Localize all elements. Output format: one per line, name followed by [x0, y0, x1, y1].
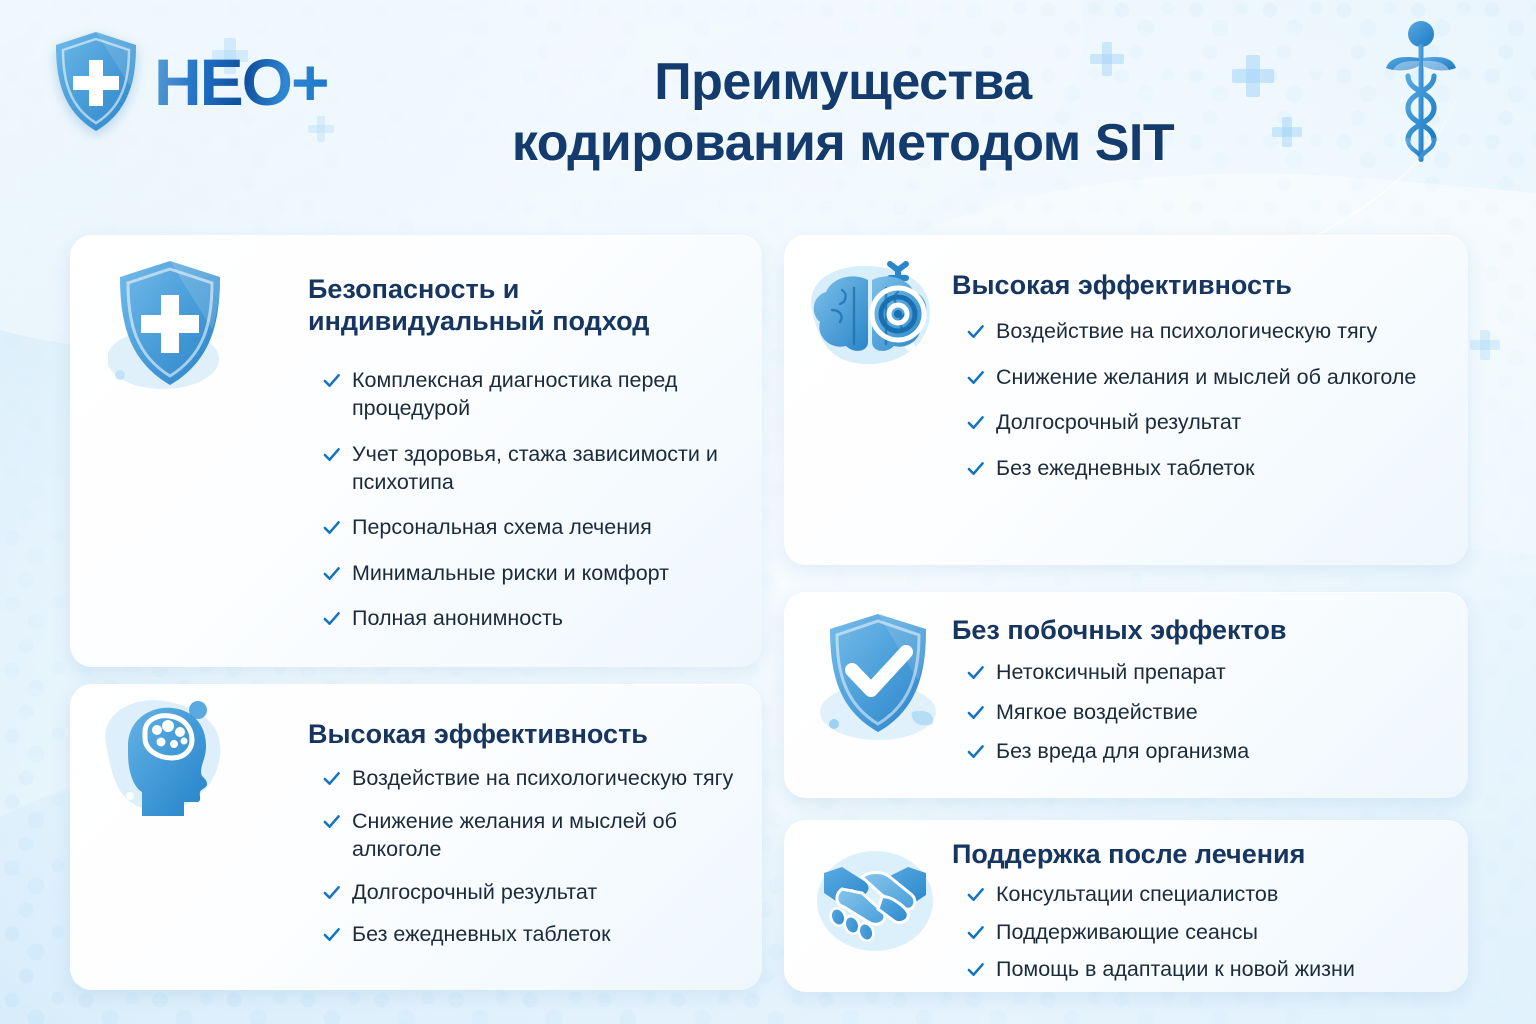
list-item-label: Мягкое воздействие: [996, 698, 1198, 726]
list-item-label: Долгосрочный результат: [352, 878, 597, 906]
check-icon: [322, 564, 341, 583]
list-item: Комплексная диагностика перед процедурой: [322, 366, 734, 423]
list-item-label: Снижение желания и мыслей об алкоголе: [352, 807, 734, 864]
list-item: Мягкое воздействие: [966, 698, 1440, 726]
check-icon: [966, 960, 985, 979]
list-item: Консультации специалистов: [966, 880, 1440, 908]
shield-cross-icon: [108, 255, 232, 405]
check-icon: [322, 925, 341, 944]
list-item-label: Без ежедневных таблеток: [352, 920, 611, 948]
check-icon: [966, 413, 985, 432]
background-cross-icon: [1470, 330, 1500, 360]
shield-cross-icon: [52, 30, 140, 134]
check-icon: [322, 812, 341, 831]
card-title: Высокая эффективность: [308, 718, 734, 750]
card-title: Поддержка после лечения: [952, 838, 1440, 870]
list-item: Без ежедневных таблеток: [966, 454, 1440, 482]
list-item: Поддерживающие сеансы: [966, 918, 1440, 946]
check-icon: [966, 885, 985, 904]
card-title: Безопасность и индивидуальный подход: [308, 273, 734, 338]
list-item-label: Минимальные риски и комфорт: [352, 559, 669, 587]
list-item-label: Персональная схема лечения: [352, 513, 652, 541]
list-item-label: Поддерживающие сеансы: [996, 918, 1258, 946]
list-item-label: Воздействие на психологическую тягу: [996, 317, 1377, 345]
check-icon: [966, 742, 985, 761]
list-item-label: Консультации специалистов: [996, 880, 1278, 908]
list-item-label: Снижение желания и мыслей об алкоголе: [996, 363, 1416, 391]
bullet-list: Консультации специалистов Поддерживающие…: [966, 880, 1440, 983]
list-item-label: Без ежедневных таблеток: [996, 454, 1255, 482]
list-item: Без ежедневных таблеток: [322, 920, 734, 948]
list-item-label: Комплексная диагностика перед процедурой: [352, 366, 734, 423]
bullet-list: Воздействие на психологическую тягу Сниж…: [322, 764, 734, 948]
list-item: Минимальные риски и комфорт: [322, 559, 734, 587]
list-item-label: Долгосрочный результат: [996, 408, 1241, 436]
handshake-icon: [812, 845, 938, 957]
list-item: Воздействие на психологическую тягу: [322, 764, 734, 792]
shield-check-icon: [816, 608, 944, 750]
list-item: Долгосрочный результат: [966, 408, 1440, 436]
list-item: Снижение желания и мыслей об алкоголе: [966, 363, 1440, 391]
bullet-list: Нетоксичный препарат Мягкое воздействие …: [966, 658, 1440, 765]
list-item: Долгосрочный результат: [322, 878, 734, 906]
check-icon: [966, 663, 985, 682]
check-icon: [322, 518, 341, 537]
list-item: Персональная схема лечения: [322, 513, 734, 541]
list-item-label: Воздействие на психологическую тягу: [352, 764, 733, 792]
list-item: Полная анонимность: [322, 604, 734, 632]
page-title: Преимущества кодирования методом SIT: [300, 52, 1386, 175]
list-item-label: Нетоксичный препарат: [996, 658, 1226, 686]
page-title-line-2: кодирования методом SIT: [300, 113, 1386, 174]
head-brain-icon: [88, 692, 236, 832]
check-icon: [966, 703, 985, 722]
brain-target-icon: [802, 258, 942, 386]
list-item-label: Без вреда для организма: [996, 737, 1249, 765]
infographic-page: НЕО+ Преимущества кодирования методом SI…: [0, 0, 1536, 1024]
caduceus-icon: [1384, 18, 1458, 168]
list-item-label: Помощь в адаптации к новой жизни: [996, 955, 1355, 983]
list-item: Помощь в адаптации к новой жизни: [966, 955, 1440, 983]
check-icon: [322, 609, 341, 628]
check-icon: [966, 322, 985, 341]
list-item: Без вреда для организма: [966, 737, 1440, 765]
list-item-label: Полная анонимность: [352, 604, 563, 632]
list-item: Учет здоровья, стажа зависимости и психо…: [322, 440, 734, 497]
header: НЕО+ Преимущества кодирования методом SI…: [0, 0, 1536, 215]
check-icon: [966, 923, 985, 942]
check-icon: [966, 459, 985, 478]
check-icon: [322, 445, 341, 464]
list-item: Воздействие на психологическую тягу: [966, 317, 1440, 345]
card-title: Высокая эффективность: [952, 269, 1440, 301]
card-title: Без побочных эффектов: [952, 614, 1440, 646]
bullet-list: Комплексная диагностика перед процедурой…: [322, 366, 734, 633]
bullet-list: Воздействие на психологическую тягу Сниж…: [966, 317, 1440, 482]
list-item-label: Учет здоровья, стажа зависимости и психо…: [352, 440, 734, 497]
check-icon: [322, 371, 341, 390]
check-icon: [322, 769, 341, 788]
list-item: Нетоксичный препарат: [966, 658, 1440, 686]
page-title-line-1: Преимущества: [300, 52, 1386, 113]
list-item: Снижение желания и мыслей об алкоголе: [322, 807, 734, 864]
check-icon: [966, 368, 985, 387]
check-icon: [322, 883, 341, 902]
brand-logo: НЕО+: [52, 30, 328, 134]
